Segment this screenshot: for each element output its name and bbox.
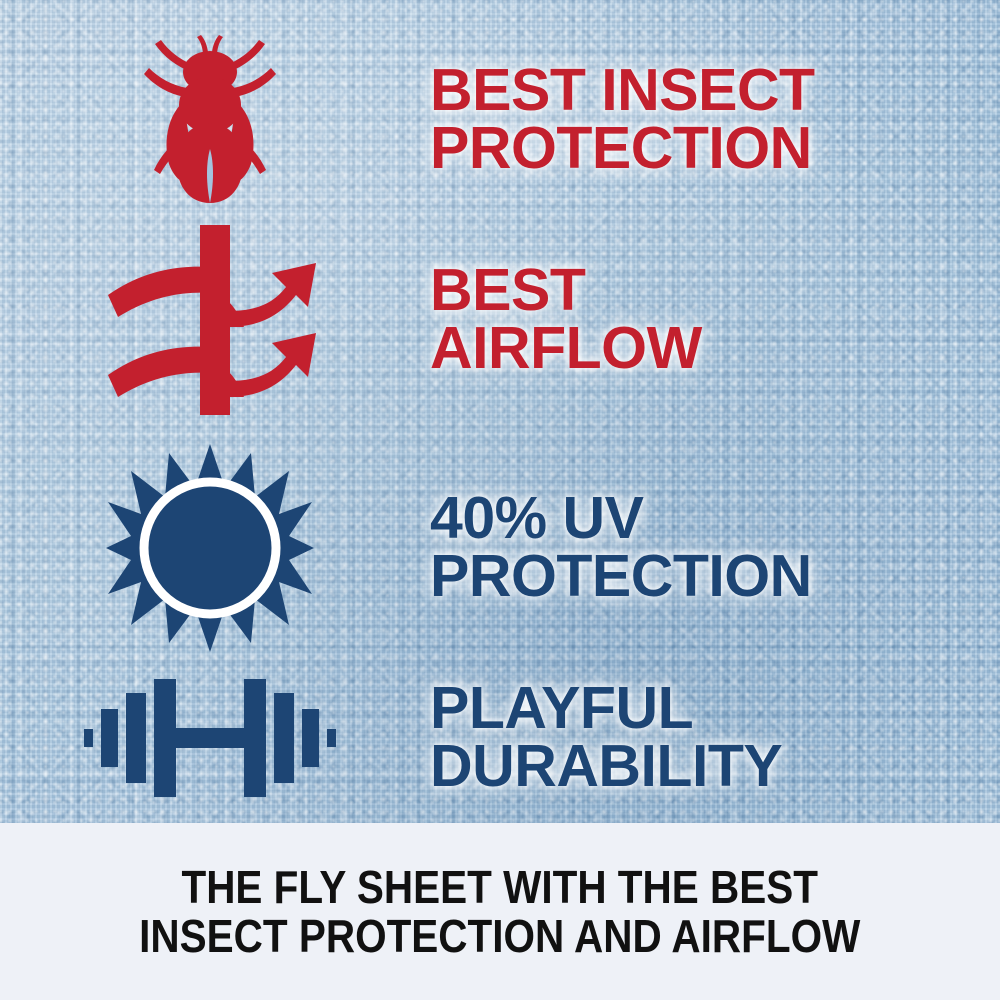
feature-headline-airflow: BEST AIRFLOW bbox=[430, 262, 1000, 378]
feature-icon-cell bbox=[0, 444, 420, 652]
feature-text-cell: PLAYFUL DURABILITY bbox=[420, 680, 1000, 796]
feature-row-insect-protection: BEST INSECT PROTECTION bbox=[0, 35, 1000, 205]
product-feature-infographic: BEST INSECT PROTECTION bbox=[0, 0, 1000, 1000]
feature-text-cell: 40% UV PROTECTION bbox=[420, 490, 1000, 606]
feature-row-airflow: BEST AIRFLOW bbox=[0, 222, 1000, 417]
feature-headline-uv-protection: 40% UV PROTECTION bbox=[430, 490, 1000, 606]
fly-icon bbox=[135, 31, 285, 209]
airflow-arrows-icon bbox=[94, 225, 326, 415]
feature-row-durability: PLAYFUL DURABILITY bbox=[0, 655, 1000, 820]
feature-text-cell: BEST INSECT PROTECTION bbox=[420, 62, 1000, 178]
dumbbell-icon bbox=[84, 671, 336, 805]
sun-icon bbox=[106, 444, 314, 652]
feature-icon-cell bbox=[0, 671, 420, 805]
caption-text: THE FLY SHEET WITH THE BEST INSECT PROTE… bbox=[139, 863, 860, 961]
feature-icon-cell bbox=[0, 31, 420, 209]
feature-text-cell: BEST AIRFLOW bbox=[420, 262, 1000, 378]
feature-icon-cell bbox=[0, 225, 420, 415]
feature-headline-durability: PLAYFUL DURABILITY bbox=[430, 680, 1000, 796]
feature-headline-insect-protection: BEST INSECT PROTECTION bbox=[430, 62, 1000, 178]
feature-row-uv-protection: 40% UV PROTECTION bbox=[0, 440, 1000, 655]
caption-bar: THE FLY SHEET WITH THE BEST INSECT PROTE… bbox=[0, 823, 1000, 1000]
